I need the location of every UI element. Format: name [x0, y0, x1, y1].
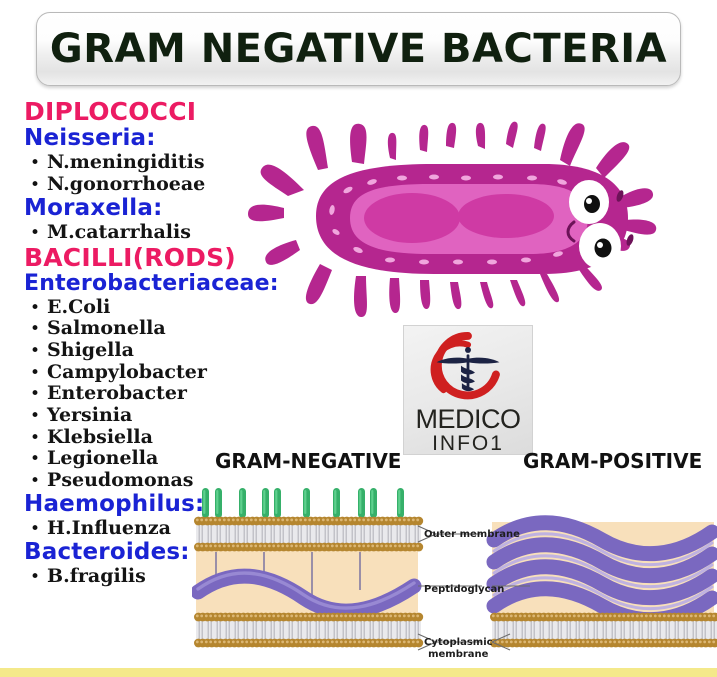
bacterium-illustration — [244, 104, 664, 332]
annotation-outer-membrane: Outer membrane — [424, 529, 520, 541]
bullet-icon: • — [30, 177, 40, 194]
page-title: GRAM NEGATIVE BACTERIA — [50, 26, 667, 72]
species-name: E.Coli — [47, 297, 110, 319]
bullet-icon: • — [30, 155, 40, 172]
list-item: • Klebsiella — [30, 427, 234, 449]
list-item: • Salmonella — [30, 318, 234, 340]
genus-heading-neisseria: Neisseria: — [24, 126, 234, 151]
list-item: • N.gonorrhoeae — [30, 174, 234, 196]
species-name: Pseudomonas — [47, 470, 193, 492]
list-item: • Enterobacter — [30, 383, 234, 405]
bullet-icon: • — [30, 473, 40, 490]
cell-wall-svg — [192, 482, 717, 663]
logo-text-secondary: INFO1 — [432, 433, 504, 454]
list-item: • Shigella — [30, 340, 234, 362]
bullet-icon: • — [30, 569, 40, 586]
species-name: Yersinia — [47, 405, 132, 427]
bullet-icon: • — [30, 365, 40, 382]
species-name: Klebsiella — [47, 427, 153, 449]
species-name: Shigella — [47, 340, 134, 362]
annotation-cytoplasmic-membrane: Cytoplasmic membrane — [424, 637, 493, 660]
bullet-icon: • — [30, 451, 40, 468]
panel-top-clear — [492, 482, 714, 522]
bullet-icon: • — [30, 408, 40, 425]
bullet-icon: • — [30, 300, 40, 317]
caduceus-icon — [423, 329, 513, 409]
genus-heading-moraxella: Moraxella: — [24, 196, 234, 221]
eye-highlight-upper — [586, 198, 592, 204]
cytoplasmic-membrane-gp — [490, 613, 717, 648]
annotation-peptidoglycan: Peptidoglycan — [424, 584, 504, 596]
bullet-icon: • — [30, 321, 40, 338]
species-name: Salmonella — [47, 318, 166, 340]
species-name: H.Influenza — [47, 518, 171, 540]
bullet-icon: • — [30, 521, 40, 538]
title-bar: GRAM NEGATIVE BACTERIA — [36, 12, 681, 86]
pupil-upper — [584, 195, 600, 213]
medico-info-logo: MEDICO INFO1 — [403, 325, 533, 455]
eye-highlight-lower — [597, 242, 603, 248]
species-name: N.meningiditis — [47, 152, 205, 174]
infographic-root: GRAM NEGATIVE BACTERIA DIPLOCOCCI Neisse… — [0, 0, 717, 677]
annotation-cytoplasmic-line1: Cytoplasmic — [424, 637, 493, 648]
cytoplasmic-membrane-gn — [194, 613, 423, 648]
annotation-cytoplasmic-line2: membrane — [428, 649, 488, 660]
species-name: B.fragilis — [47, 566, 146, 588]
group-heading-bacilli: BACILLI(RODS) — [24, 244, 234, 271]
bottom-accent-strip — [0, 668, 717, 677]
species-name: M.catarrhalis — [47, 222, 191, 244]
bullet-icon: • — [30, 225, 40, 242]
list-item: • Yersinia — [30, 405, 234, 427]
bacterium-svg — [244, 104, 664, 332]
pupil-lower — [595, 239, 612, 258]
nucleoid-right — [458, 194, 554, 238]
list-item: • N.meningiditis — [30, 152, 234, 174]
bullet-icon: • — [30, 430, 40, 447]
species-name: N.gonorrhoeae — [47, 174, 205, 196]
species-name: Enterobacter — [47, 383, 187, 405]
gram-negative-panel — [194, 488, 423, 647]
gram-positive-panel — [490, 482, 717, 647]
list-item: • M.catarrhalis — [30, 222, 234, 244]
group-heading-diplococci: DIPLOCOCCI — [24, 98, 234, 125]
list-item: • Campylobacter — [30, 362, 234, 384]
title-banner: GRAM NEGATIVE BACTERIA — [36, 12, 681, 86]
label-gram-negative: GRAM-NEGATIVE — [215, 449, 401, 473]
lps-spikes — [202, 488, 404, 518]
list-item: • E.Coli — [30, 297, 234, 319]
logo-text-primary: MEDICO — [416, 407, 521, 433]
bullet-icon: • — [30, 386, 40, 403]
genus-heading-enterobacteriaceae: Enterobacteriaceae: — [24, 272, 234, 296]
list-item: • Legionella — [30, 448, 234, 470]
label-gram-positive: GRAM-POSITIVE — [523, 449, 702, 473]
species-name: Legionella — [47, 448, 158, 470]
cell-wall-diagram — [192, 482, 717, 663]
nucleoid-left — [364, 193, 460, 243]
species-name: Campylobacter — [47, 362, 207, 384]
bullet-icon: • — [30, 343, 40, 360]
outer-membrane-bilayer — [194, 517, 423, 552]
